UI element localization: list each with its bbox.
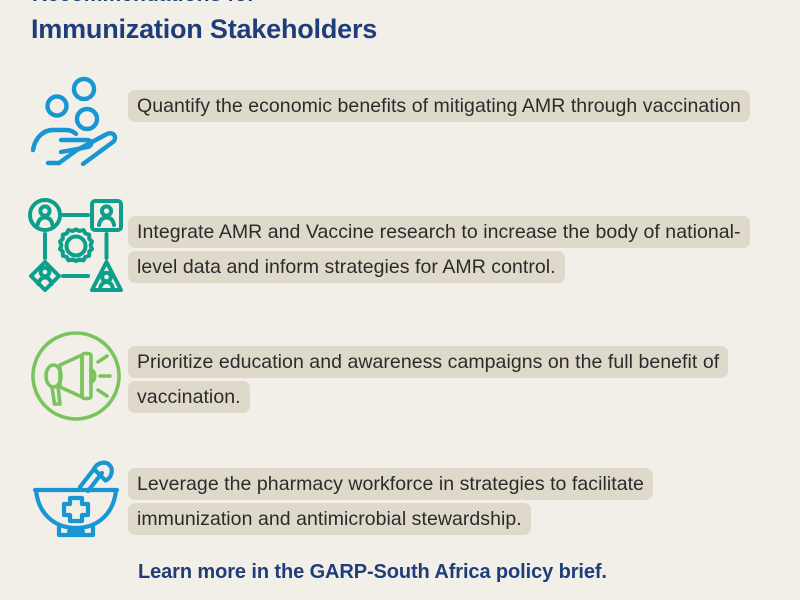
list-item: Prioritize education and awareness campa… bbox=[0, 328, 800, 450]
recommendation-text-cell: Prioritize education and awareness campa… bbox=[128, 328, 800, 415]
megaphone-circle-icon bbox=[24, 328, 128, 424]
recommendation-text-cell: Quantify the economic benefits of mitiga… bbox=[128, 72, 800, 124]
recommendation-text-cell: Leverage the pharmacy workforce in strat… bbox=[128, 450, 800, 537]
list-item: Integrate AMR and Vaccine research to in… bbox=[0, 198, 800, 328]
stakeholder-network-gear-icon bbox=[24, 198, 128, 294]
hand-with-bubbles-icon bbox=[24, 72, 128, 168]
recommendation-text: Quantify the economic benefits of mitiga… bbox=[128, 90, 750, 122]
mortar-and-pestle-icon bbox=[24, 450, 128, 546]
policy-brief-link[interactable]: Learn more in the GARP-South Africa poli… bbox=[138, 561, 607, 584]
list-item: Leverage the pharmacy workforce in strat… bbox=[0, 450, 800, 550]
recommendation-text: Integrate AMR and Vaccine research to in… bbox=[128, 216, 750, 283]
recommendation-text-cell: Integrate AMR and Vaccine research to in… bbox=[128, 198, 800, 285]
list-item: Quantify the economic benefits of mitiga… bbox=[0, 72, 800, 198]
page-title: Immunization Stakeholders bbox=[31, 12, 377, 46]
clipped-heading-above: Recommendations for bbox=[32, 0, 732, 6]
recommendation-text: Prioritize education and awareness campa… bbox=[128, 346, 728, 413]
recommendation-list: Quantify the economic benefits of mitiga… bbox=[0, 72, 800, 550]
infographic-page: Recommendations for Immunization Stakeho… bbox=[0, 0, 800, 600]
recommendation-text: Leverage the pharmacy workforce in strat… bbox=[128, 468, 653, 535]
